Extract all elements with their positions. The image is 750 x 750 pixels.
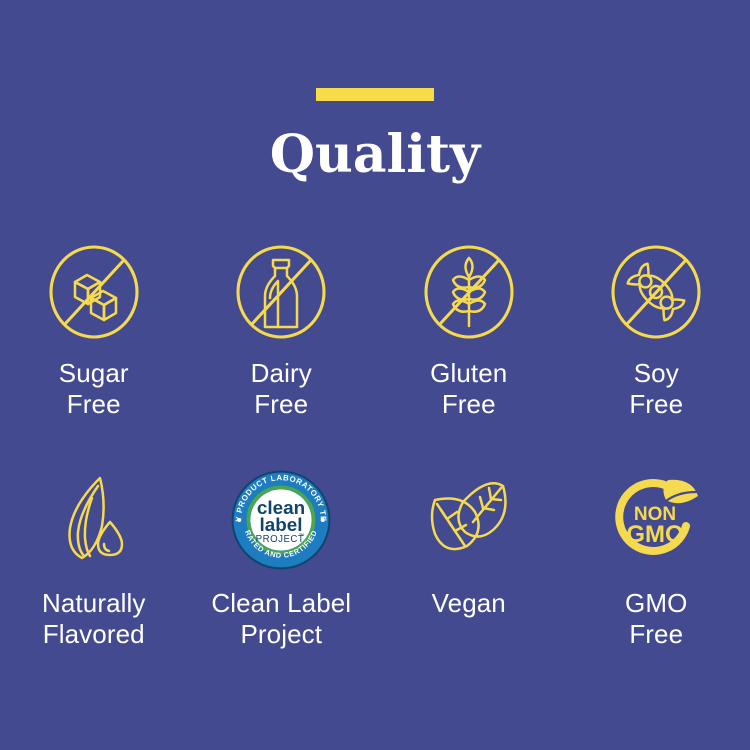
non-gmo-line2: GMO	[627, 521, 684, 548]
badge-label-line2: Free	[254, 389, 308, 419]
badge-label-line2: Free	[442, 389, 496, 419]
no-sugar-cubes-icon	[40, 238, 148, 346]
badge-item-soy-free[interactable]: Soy Free	[563, 238, 750, 419]
seal-center-line3: PROJECT	[256, 534, 305, 545]
badge-label: Naturally Flavored	[42, 588, 146, 649]
no-wheat-icon	[415, 238, 523, 346]
no-soybean-icon	[602, 238, 710, 346]
badge-label-line1: Sugar	[59, 358, 129, 388]
badge-label: Soy Free	[629, 358, 683, 419]
badge-label-line2: Flavored	[43, 619, 145, 649]
badge-label-line1: Gluten	[430, 358, 507, 388]
badge-label-line1: GMO	[625, 588, 687, 618]
page-header: Quality	[0, 0, 750, 181]
two-leaves-icon	[415, 468, 523, 572]
no-milk-bottle-icon	[227, 238, 335, 346]
clean-label-project-seal-icon: EVERY PRODUCT LABORATORY TESTED RATED AN…	[227, 468, 335, 572]
badge-label-line1: Dairy	[251, 358, 312, 388]
badge-label: Vegan	[432, 588, 506, 619]
leaf-droplet-icon	[40, 468, 148, 572]
badge-item-vegan[interactable]: Vegan	[375, 468, 563, 619]
badge-label-line1: Naturally	[42, 588, 146, 618]
badge-label-line2: Free	[629, 389, 683, 419]
badge-label: GMO Free	[625, 588, 687, 649]
badge-label: Dairy Free	[251, 358, 312, 419]
badge-label: Clean Label Project	[211, 588, 351, 649]
badge-item-gmo-free[interactable]: NON GMO GMO Free	[563, 468, 750, 649]
badge-item-sugar-free[interactable]: Sugar Free	[0, 238, 188, 419]
badge-label: Sugar Free	[59, 358, 129, 419]
badge-label: Gluten Free	[430, 358, 507, 419]
badge-label-line2: Project	[240, 619, 322, 649]
yellow-rule-divider	[316, 88, 434, 101]
seal-center-line2: label	[260, 514, 303, 535]
badge-label-line1: Vegan	[432, 588, 506, 618]
badge-label-line1: Clean Label	[211, 588, 351, 618]
badge-label-line2: Free	[629, 619, 683, 649]
badge-item-naturally-flavored[interactable]: Naturally Flavored	[0, 468, 188, 649]
seal-trademark: ™	[299, 533, 305, 539]
badge-item-clean-label-project[interactable]: EVERY PRODUCT LABORATORY TESTED RATED AN…	[188, 468, 376, 649]
non-gmo-seal-icon: NON GMO	[602, 468, 710, 572]
badge-item-dairy-free[interactable]: Dairy Free	[188, 238, 376, 419]
badge-label-line2: Free	[67, 389, 121, 419]
quality-badges-page: Quality Sugar	[0, 0, 750, 750]
badge-grid: Sugar Free Dairy Free	[0, 238, 750, 698]
badge-label-line1: Soy	[634, 358, 679, 388]
page-title: Quality	[0, 129, 750, 181]
badge-item-gluten-free[interactable]: Gluten Free	[375, 238, 563, 419]
